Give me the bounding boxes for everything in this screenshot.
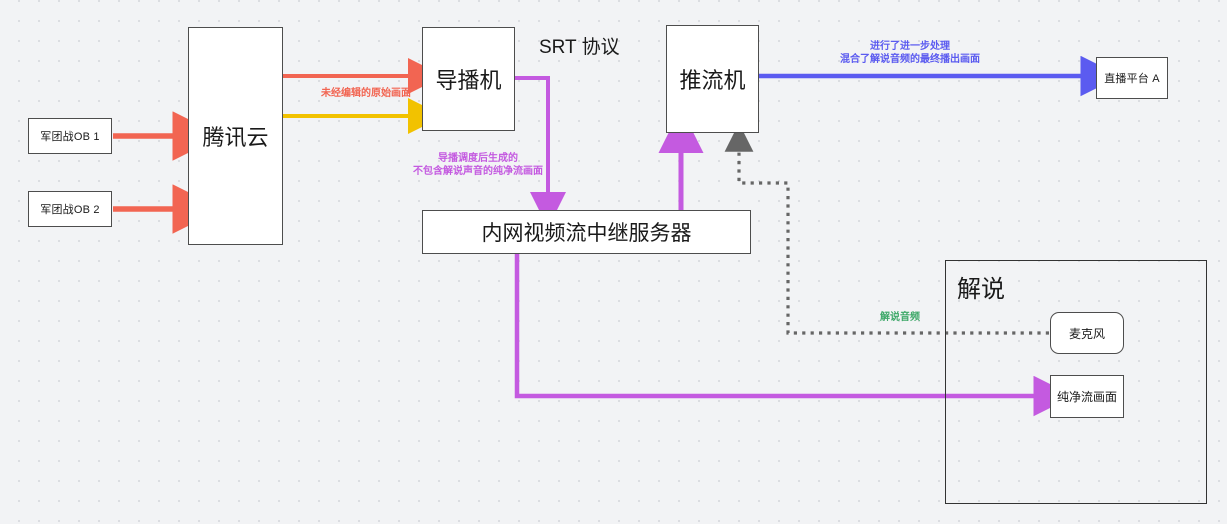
node-ob1[interactable]: 军团战OB 1	[28, 118, 112, 154]
srt-protocol-label: SRT 协议	[539, 32, 620, 59]
group-commentary-label: 解说	[957, 269, 1005, 304]
node-tencent-cloud[interactable]: 腾讯云	[188, 27, 283, 245]
node-pusher[interactable]: 推流机	[666, 25, 759, 133]
node-ob2[interactable]: 军团战OB 2	[28, 191, 112, 227]
node-relay-server[interactable]: 内网视频流中继服务器	[422, 210, 751, 254]
edge-switcher-to-relay	[515, 78, 548, 196]
node-switcher[interactable]: 导播机	[422, 27, 515, 131]
node-platform-a[interactable]: 直播平台 A	[1096, 57, 1168, 99]
node-microphone[interactable]: 麦克风	[1050, 312, 1124, 354]
node-clean-stream[interactable]: 纯净流画面	[1050, 375, 1124, 418]
diagram-canvas: 未经编辑的原始画面 导播调度后生成的 不包含解说声音的纯净流画面 进行了进一步处…	[0, 0, 1227, 524]
